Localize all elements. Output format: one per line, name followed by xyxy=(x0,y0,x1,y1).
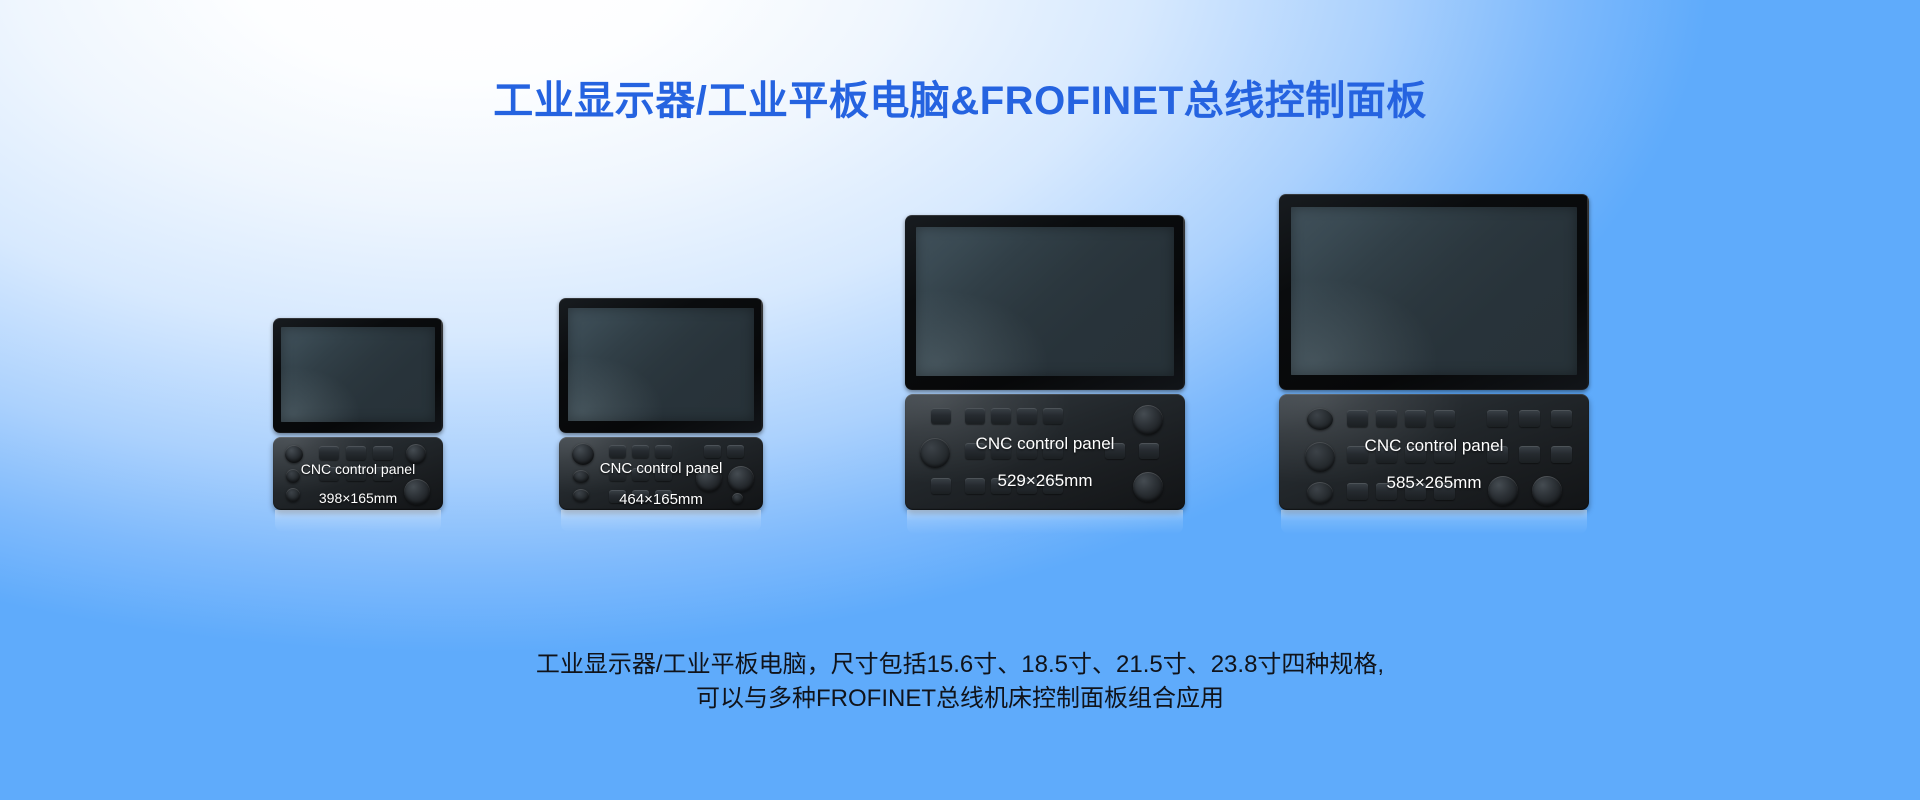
panel-button[interactable] xyxy=(632,468,649,481)
panel-knob-bottom-right-2[interactable] xyxy=(1532,476,1562,506)
panel-knob-top-right[interactable] xyxy=(1133,405,1163,435)
panel-knob-left-mid[interactable] xyxy=(1305,442,1335,472)
panel-button[interactable] xyxy=(632,445,649,458)
device-card-4[interactable]: CNC control panel 585×265mm xyxy=(1279,194,1589,510)
panel-knob-bottom-left[interactable] xyxy=(286,488,300,502)
panel-button[interactable] xyxy=(1347,483,1368,500)
cnc-control-panel-2[interactable]: CNC control panel 464×165mm xyxy=(559,437,763,510)
panel-button[interactable] xyxy=(965,443,985,459)
device-card-2[interactable]: CNC control panel 464×165mm xyxy=(559,298,763,510)
device-card-1[interactable]: CNC control panel 398×165mm xyxy=(273,318,443,510)
panel-knob-left-bottom[interactable] xyxy=(1307,482,1333,504)
panel-button[interactable] xyxy=(1376,410,1397,427)
panel-button[interactable] xyxy=(1551,446,1572,463)
panel-button[interactable] xyxy=(1405,483,1426,500)
panel-knob-top-left[interactable] xyxy=(285,445,303,463)
panel-knob-bottom-right[interactable] xyxy=(1133,472,1163,502)
panel-button[interactable] xyxy=(632,490,649,503)
panel-button[interactable] xyxy=(373,446,393,460)
panel-button[interactable] xyxy=(1376,446,1397,463)
page-title: 工业显示器/工业平板电脑&FROFINET总线控制面板 xyxy=(0,68,1920,126)
monitor-screen-1 xyxy=(281,327,435,422)
panel-button[interactable] xyxy=(1405,410,1426,427)
panel-button[interactable] xyxy=(346,467,366,481)
monitor-screen-4 xyxy=(1291,207,1577,375)
monitor-screen-2 xyxy=(568,308,754,421)
panel-knob-left-top[interactable] xyxy=(1307,408,1333,430)
panel-button[interactable] xyxy=(991,408,1011,424)
footer-line-2: 可以与多种FROFINET总线机床控制面板组合应用 xyxy=(0,682,1920,716)
monitor-display-3[interactable] xyxy=(905,215,1185,390)
panel-button[interactable] xyxy=(609,490,626,503)
panel-button[interactable] xyxy=(373,467,393,481)
panel-button[interactable] xyxy=(319,446,339,460)
panel-button[interactable] xyxy=(319,467,339,481)
device-reflection-1 xyxy=(275,510,441,532)
panel-button[interactable] xyxy=(1519,410,1540,427)
panel-knob-top-left[interactable] xyxy=(572,443,594,465)
panel-knob-left[interactable] xyxy=(920,438,950,468)
panel-knob-mid-left[interactable] xyxy=(286,469,300,483)
panel-button[interactable] xyxy=(965,408,985,424)
panel-button[interactable] xyxy=(1347,446,1368,463)
panel-button[interactable] xyxy=(727,445,744,458)
panel-button[interactable] xyxy=(931,478,951,494)
monitor-display-4[interactable] xyxy=(1279,194,1589,390)
panel-button[interactable] xyxy=(1105,443,1125,459)
panel-knob-top-right[interactable] xyxy=(406,444,426,464)
device-reflection-3 xyxy=(907,510,1183,534)
panel-button[interactable] xyxy=(1017,478,1037,494)
panel-button[interactable] xyxy=(1434,410,1455,427)
panel-button[interactable] xyxy=(1017,408,1037,424)
monitor-screen-3 xyxy=(916,227,1174,376)
panel-button[interactable] xyxy=(704,445,721,458)
panel-button[interactable] xyxy=(609,468,626,481)
panel-button[interactable] xyxy=(609,445,626,458)
cnc-control-panel-4[interactable]: CNC control panel 585×265mm xyxy=(1279,394,1589,510)
panel-button[interactable] xyxy=(1347,410,1368,427)
panel-button[interactable] xyxy=(1434,446,1455,463)
cnc-control-panel-3[interactable]: CNC control panel 529×265mm xyxy=(905,394,1185,510)
panel-button[interactable] xyxy=(1376,483,1397,500)
panel-button[interactable] xyxy=(1043,408,1063,424)
panel-knob-bottom-right[interactable] xyxy=(404,479,430,505)
panel-knob-mid-left[interactable] xyxy=(573,470,589,483)
panel-button[interactable] xyxy=(1551,410,1572,427)
panel-button[interactable] xyxy=(1519,446,1540,463)
device-reflection-4 xyxy=(1281,510,1587,534)
monitor-display-1[interactable] xyxy=(273,318,443,433)
monitor-display-2[interactable] xyxy=(559,298,763,433)
panel-button[interactable] xyxy=(655,490,672,503)
panel-knob-right-2[interactable] xyxy=(728,466,754,492)
cnc-control-panel-1[interactable]: CNC control panel 398×165mm xyxy=(273,437,443,510)
panel-button[interactable] xyxy=(1487,446,1508,463)
panel-button[interactable] xyxy=(1139,443,1159,459)
panel-button[interactable] xyxy=(1043,478,1063,494)
panel-button[interactable] xyxy=(346,446,366,460)
panel-knob-bottom-left[interactable] xyxy=(573,489,589,502)
device-lineup: CNC control panel 398×165mm xyxy=(0,180,1920,510)
footer-line-1: 工业显示器/工业平板电脑，尺寸包括15.6寸、18.5寸、21.5寸、23.8寸… xyxy=(0,648,1920,682)
panel-button[interactable] xyxy=(1043,443,1063,459)
panel-button[interactable] xyxy=(965,478,985,494)
footer-caption: 工业显示器/工业平板电脑，尺寸包括15.6寸、18.5寸、21.5寸、23.8寸… xyxy=(0,648,1920,716)
panel-knob-small-right[interactable] xyxy=(732,493,743,504)
panel-button[interactable] xyxy=(931,408,951,424)
device-reflection-2 xyxy=(561,510,761,532)
panel-button[interactable] xyxy=(1405,446,1426,463)
panel-button[interactable] xyxy=(991,443,1011,459)
panel-button[interactable] xyxy=(655,468,672,481)
panel-button[interactable] xyxy=(1487,410,1508,427)
panel-button[interactable] xyxy=(655,445,672,458)
panel-button[interactable] xyxy=(991,478,1011,494)
device-card-3[interactable]: CNC control panel 529×265mm xyxy=(905,215,1185,510)
panel-button[interactable] xyxy=(1434,483,1455,500)
panel-knob-right-1[interactable] xyxy=(696,466,722,492)
panel-button[interactable] xyxy=(1017,443,1037,459)
panel-knob-bottom-right-1[interactable] xyxy=(1488,476,1518,506)
